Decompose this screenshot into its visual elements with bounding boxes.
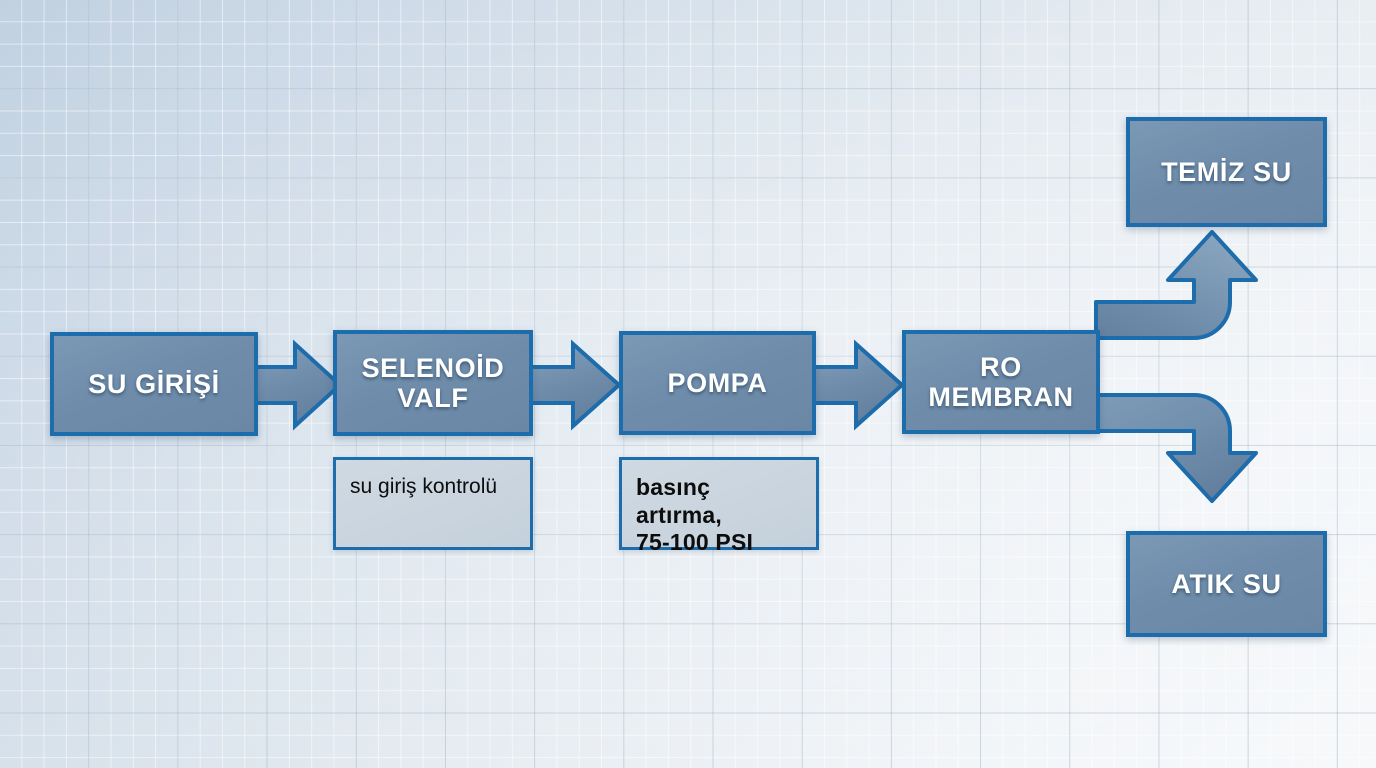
arrow-pompa-to-ro [811,338,907,432]
node-atik-su[interactable]: ATIK SU [1126,531,1327,637]
node-ro-membran[interactable]: RO MEMBRAN [902,330,1100,434]
arrow-ro-to-atik-su [1090,390,1280,540]
node-su-girisi-label: SU GİRİŞİ [88,369,219,399]
note-selenoid-valf-text: su giriş kontrolü [350,474,497,499]
note-selenoid-valf: su giriş kontrolü [333,457,533,550]
arrow-su-girisi-to-selenoid [252,338,344,432]
node-temiz-su[interactable]: TEMİZ SU [1126,117,1327,227]
node-atik-su-label: ATIK SU [1171,569,1281,599]
node-selenoid-valf[interactable]: SELENOİD VALF [333,330,533,436]
node-su-girisi[interactable]: SU GİRİŞİ [50,332,258,436]
node-temiz-su-label: TEMİZ SU [1161,157,1292,187]
diagram-canvas: SU GİRİŞİ SELENOİD VALF POMPA RO MEMBRAN… [0,0,1376,768]
note-pompa: basınç artırma, 75-100 PSI [619,457,819,550]
node-pompa[interactable]: POMPA [619,331,816,435]
node-ro-membran-label: RO MEMBRAN [928,352,1073,412]
node-selenoid-valf-label: SELENOİD VALF [362,353,505,413]
arrow-ro-to-temiz-su [1090,228,1280,378]
arrow-selenoid-to-pompa [528,338,624,432]
node-pompa-label: POMPA [667,368,767,398]
note-pompa-text: basınç artırma, 75-100 PSI [636,474,802,557]
